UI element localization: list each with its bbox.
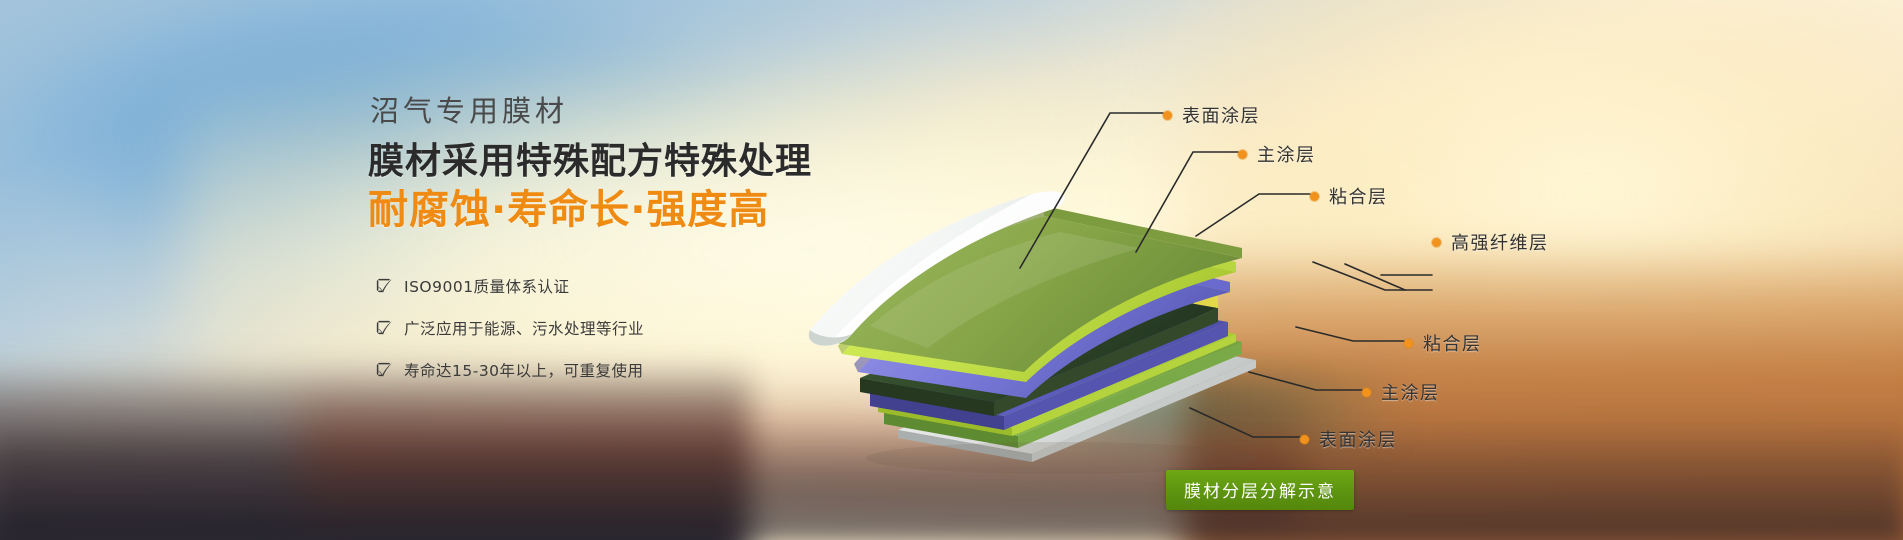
hero-banner: 沼气专用膜材 膜材采用特殊配方特殊处理 耐腐蚀·寿命长·强度高 ISO9001质… (0, 0, 1903, 540)
callout-label-fiber-core: 高强纤维层 (1432, 229, 1549, 255)
callout-dot-icon (1432, 238, 1441, 247)
feature-label: ISO9001质量体系认证 (404, 275, 570, 297)
callout-text: 粘合层 (1329, 183, 1388, 209)
feature-label: 广泛应用于能源、污水处理等行业 (404, 317, 644, 339)
callout-dot-icon (1404, 339, 1413, 348)
callout-dot-icon (1362, 388, 1371, 397)
banner-copy-block: 沼气专用膜材 膜材采用特殊配方特殊处理 耐腐蚀·寿命长·强度高 ISO9001质… (368, 96, 838, 381)
callout-dot-icon (1310, 192, 1319, 201)
list-item: ISO9001质量体系认证 (376, 275, 838, 297)
check-tick-icon (376, 362, 393, 379)
callout-label-primary-coating-bottom: 主涂层 (1362, 379, 1440, 405)
callout-label-adhesive-bottom: 粘合层 (1404, 330, 1482, 356)
callout-text: 主涂层 (1257, 141, 1316, 167)
check-tick-icon (376, 278, 393, 295)
list-item: 广泛应用于能源、污水处理等行业 (376, 317, 838, 339)
callout-dot-icon (1163, 111, 1172, 120)
callout-label-surface-coating-top: 表面涂层 (1163, 102, 1260, 128)
callout-text: 表面涂层 (1182, 102, 1260, 128)
banner-headline-accent: 耐腐蚀·寿命长·强度高 (368, 188, 838, 233)
callout-dot-icon (1238, 150, 1247, 159)
callout-label-primary-coating-top: 主涂层 (1238, 141, 1316, 167)
diagram-caption-badge: 膜材分层分解示意 (1166, 470, 1354, 510)
callout-dot-icon (1300, 435, 1309, 444)
list-item: 寿命达15-30年以上，可重复使用 (376, 359, 838, 381)
feature-list: ISO9001质量体系认证 广泛应用于能源、污水处理等行业 (376, 275, 838, 381)
callout-text: 高强纤维层 (1451, 229, 1549, 255)
callout-label-surface-coating-bottom: 表面涂层 (1300, 426, 1397, 452)
callout-text: 表面涂层 (1319, 426, 1397, 452)
banner-headline-main: 膜材采用特殊配方特殊处理 (368, 142, 838, 182)
check-tick-icon (376, 320, 393, 337)
callout-label-adhesive-top: 粘合层 (1310, 183, 1388, 209)
callout-text: 粘合层 (1423, 330, 1482, 356)
banner-eyebrow: 沼气专用膜材 (370, 96, 838, 128)
callout-text: 主涂层 (1381, 379, 1440, 405)
feature-label: 寿命达15-30年以上，可重复使用 (404, 359, 644, 381)
